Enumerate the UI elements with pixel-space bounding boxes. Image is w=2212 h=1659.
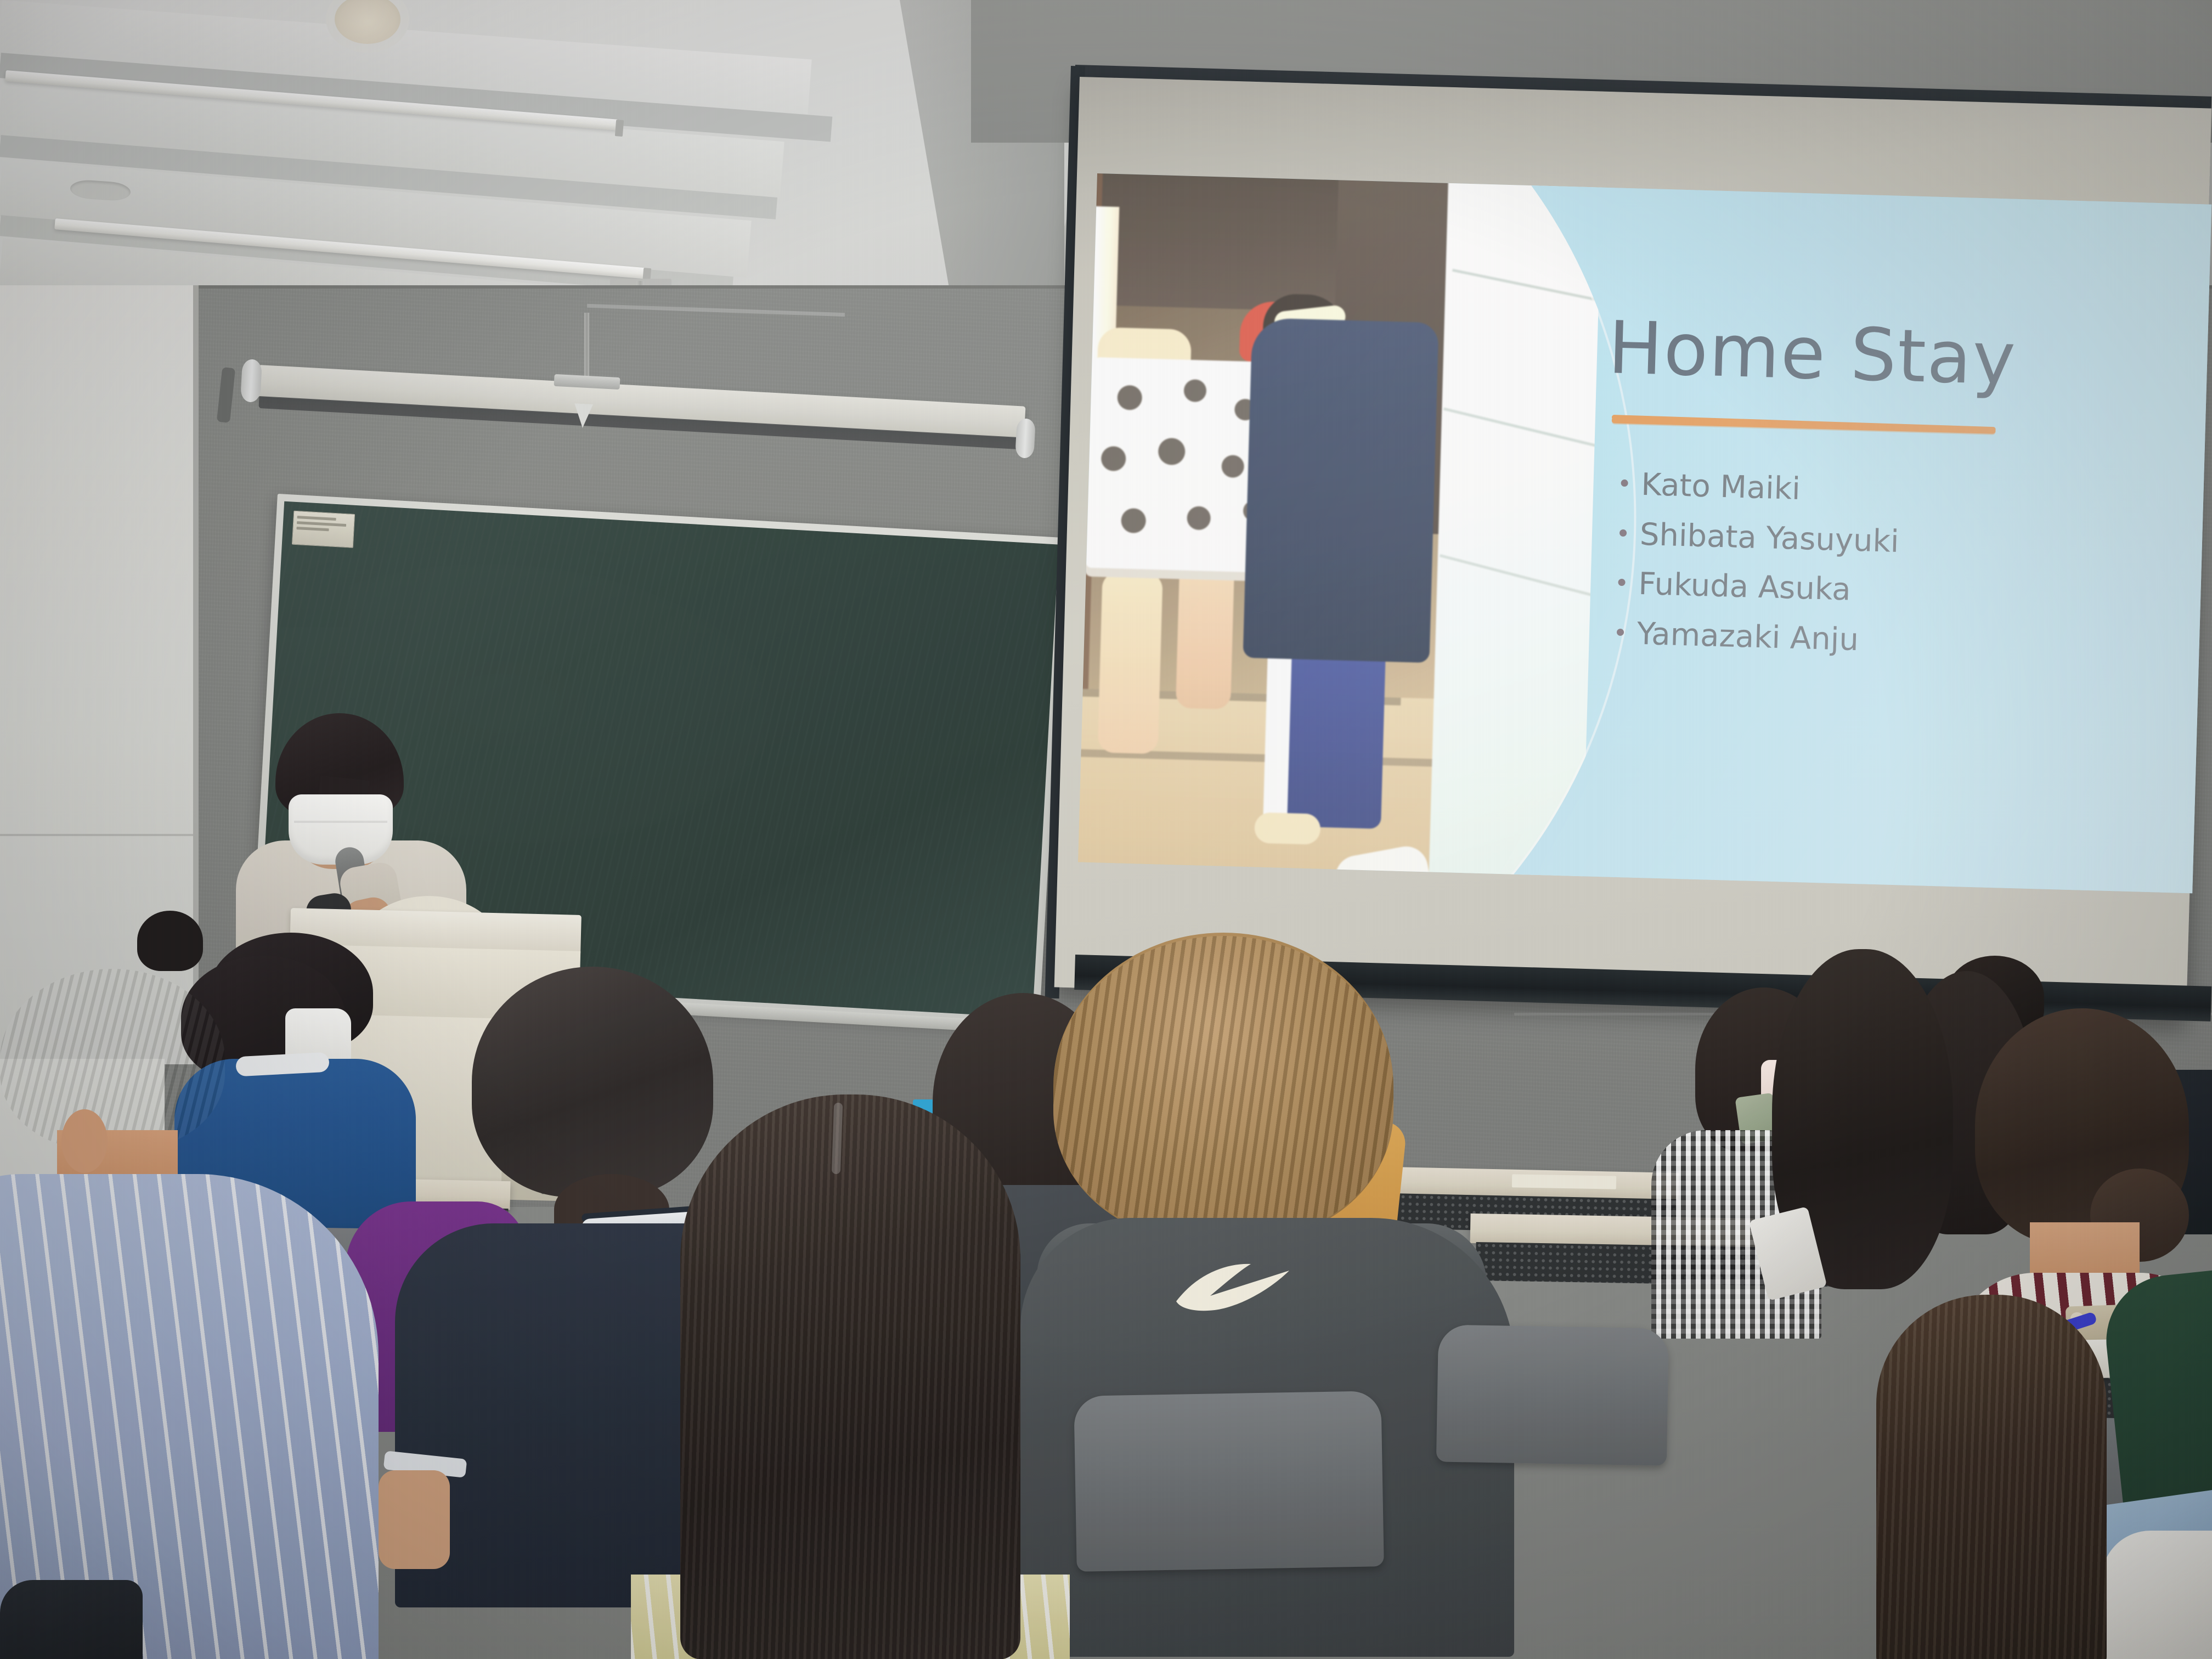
bullet-icon bbox=[1621, 479, 1628, 487]
presentation-slide[interactable]: Home Stay Kato Maiki Shibata Yasuyuki Fu… bbox=[1078, 173, 2211, 893]
bullet-icon bbox=[1617, 629, 1624, 636]
bullet-icon bbox=[1620, 529, 1627, 537]
list-item: Shibata Yasuyuki bbox=[1619, 510, 1900, 567]
slide-content: Home Stay Kato Maiki Shibata Yasuyuki Fu… bbox=[1078, 173, 2211, 893]
student-dark-hair-head bbox=[472, 967, 713, 1197]
student-back-row-head bbox=[137, 911, 203, 971]
slide-bullet-list: Kato Maiki Shibata Yasuyuki Fukuda Asuka… bbox=[1616, 460, 1901, 667]
lecture-hall-scene: Home Stay Kato Maiki Shibata Yasuyuki Fu… bbox=[0, 0, 2212, 1659]
hair-texture bbox=[1876, 1295, 2107, 1659]
chair bbox=[1074, 1391, 1384, 1572]
ceiling-light-end-cap bbox=[615, 120, 624, 137]
list-item: Kato Maiki bbox=[1620, 460, 1901, 517]
hair-texture bbox=[0, 969, 225, 1150]
screen-case-end-cap bbox=[240, 359, 262, 403]
screen-case-hanger bbox=[584, 313, 589, 381]
bullet-text: Kato Maiki bbox=[1640, 460, 1801, 515]
student-arm bbox=[379, 1470, 450, 1569]
bullet-text: Yamazaki Anju bbox=[1637, 610, 1859, 665]
chair bbox=[1436, 1324, 1669, 1465]
bullet-text: Shibata Yasuyuki bbox=[1639, 510, 1900, 567]
face-mask-fold bbox=[294, 821, 387, 823]
list-item: Fukuda Asuka bbox=[1617, 559, 1898, 617]
nike-swoosh-icon bbox=[1174, 1262, 1311, 1311]
hair-texture bbox=[680, 1094, 1020, 1659]
screen-case-end-cap bbox=[1015, 418, 1036, 459]
bullet-text: Fukuda Asuka bbox=[1638, 560, 1852, 615]
student-foreground-dark-shoulder bbox=[0, 1580, 143, 1659]
paper-on-desk bbox=[1512, 1174, 1616, 1189]
student-white-sleeve bbox=[2101, 1531, 2212, 1659]
student-ear bbox=[61, 1109, 108, 1173]
chalkboard-label-sticker bbox=[292, 511, 355, 548]
bullet-icon bbox=[1618, 579, 1625, 586]
list-item: Yamazaki Anju bbox=[1616, 609, 1897, 667]
slide-accent-rule bbox=[1612, 417, 1996, 434]
slide-title: Home Stay bbox=[1607, 306, 2017, 402]
wall-panel-seam bbox=[0, 834, 198, 836]
hair-texture bbox=[1053, 936, 1393, 1238]
